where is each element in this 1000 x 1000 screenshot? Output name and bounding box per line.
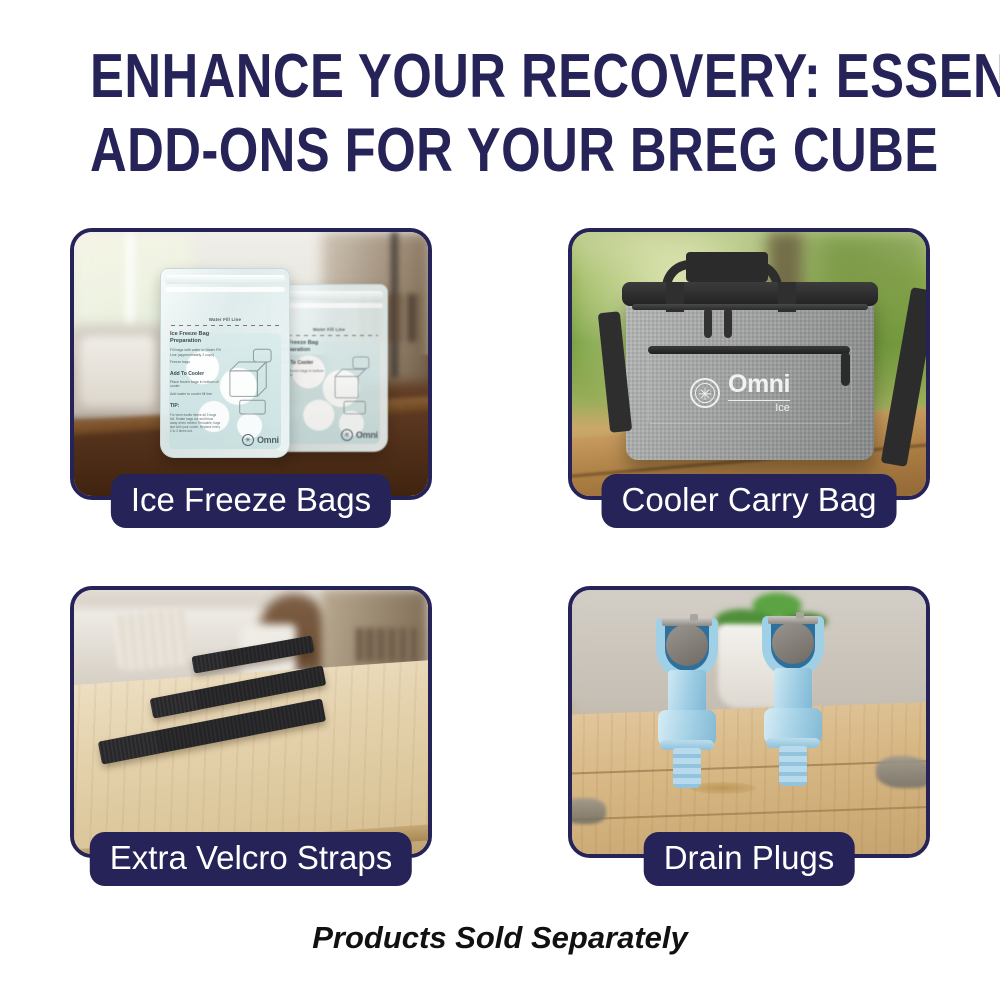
zipper-pull-left xyxy=(704,308,712,338)
bag-step-1: Fill bags with water to Water Fill Line … xyxy=(170,348,221,357)
bag-zipper xyxy=(165,275,285,284)
product-card-drain-plugs[interactable]: Drain Plugs xyxy=(568,586,930,858)
omni-ice-logo: Omni Ice xyxy=(690,372,790,414)
bag-tip-body: For best results freeze all 3 bags full.… xyxy=(170,413,221,434)
ice-bag-front: Water Fill Line Ice Freeze Bag Preparati… xyxy=(160,268,290,458)
bag-brand-name: Omni xyxy=(257,435,279,445)
omni-snowflake-icon xyxy=(242,434,254,446)
cooler-carry-bag-photo: Omni Ice xyxy=(572,232,926,496)
bag-step-4: Add water to cooler fill line xyxy=(170,392,221,397)
product-label-extra-velcro-straps: Extra Velcro Straps xyxy=(90,832,412,886)
bag-zipper-secondary xyxy=(165,287,285,292)
footer-disclaimer: Products Sold Separately xyxy=(0,920,1000,956)
plug-cap-nub xyxy=(796,612,804,619)
stone-left xyxy=(572,798,606,824)
bag-instructions-front: Ice Freeze Bag Preparation Fill bags wit… xyxy=(170,331,221,434)
bag-instructions-title: Ice Freeze Bag Preparation xyxy=(170,331,221,345)
pocket-zipper xyxy=(648,346,850,354)
bag-section-heading: Add To Cooler xyxy=(170,371,221,377)
product-image-frame xyxy=(568,586,930,858)
plug-cap-hinge xyxy=(768,616,818,624)
stone-right xyxy=(876,756,926,788)
cooler-lid xyxy=(622,282,878,306)
plug-cap-nub xyxy=(690,614,698,621)
bag-zipper xyxy=(275,291,383,300)
plug-cap-hinge xyxy=(662,618,712,626)
brand-subtitle: Ice xyxy=(728,400,790,414)
bag-diagram-illustration xyxy=(224,329,283,434)
drain-plugs-photo xyxy=(572,590,926,854)
handle-grip-pad xyxy=(686,252,768,282)
drain-plug-left xyxy=(650,618,724,786)
books-on-shelf xyxy=(356,628,422,662)
product-card-cooler-carry-bag[interactable]: Omni Ice Cooler Carry Bag xyxy=(568,228,930,500)
plug-barbed-stem xyxy=(673,748,701,788)
bag-step-2: Freeze bags xyxy=(170,360,221,365)
bag-brand-logo-front: Omni xyxy=(242,434,279,446)
drain-plug-right xyxy=(756,616,830,784)
plug-metal-cap xyxy=(772,622,814,664)
pocket-zipper-pull xyxy=(841,352,850,386)
omni-snowflake-icon xyxy=(341,429,353,441)
throw-pillow xyxy=(113,608,190,671)
bag-brand-name: Omni xyxy=(356,430,378,440)
product-label-ice-freeze-bags: Ice Freeze Bags xyxy=(111,474,391,528)
page-title-line-2: ADD-ONS FOR YOUR BREG CUBE xyxy=(90,114,910,188)
page-title-line-1: ENHANCE YOUR RECOVERY: ESSENTIAL xyxy=(90,40,910,114)
omni-wordmark: Omni Ice xyxy=(728,372,790,414)
bag-brand-logo-rear: Omni xyxy=(341,429,378,441)
product-grid: Water Fill Line Ice Freeze Bag Preparati… xyxy=(70,228,930,858)
cooler-bag-body: Omni Ice xyxy=(626,294,874,460)
bag-fill-line-label: Water Fill Line xyxy=(161,317,289,322)
zipper-pull-right xyxy=(724,308,732,338)
product-card-extra-velcro-straps[interactable]: Extra Velcro Straps xyxy=(70,586,432,858)
product-image-frame: Water Fill Line Ice Freeze Bag Preparati… xyxy=(70,228,432,500)
extra-velcro-straps-photo xyxy=(74,590,428,854)
product-label-cooler-carry-bag: Cooler Carry Bag xyxy=(602,474,897,528)
ice-freeze-bags-photo: Water Fill Line Ice Freeze Bag Preparati… xyxy=(74,232,428,496)
infographic-page: ENHANCE YOUR RECOVERY: ESSENTIAL ADD-ONS… xyxy=(0,0,1000,1000)
bag-zipper-secondary xyxy=(275,303,383,308)
product-image-frame xyxy=(70,586,432,858)
product-label-drain-plugs: Drain Plugs xyxy=(644,832,855,886)
main-zipper xyxy=(632,304,868,310)
plug-metal-cap xyxy=(666,624,708,666)
page-title: ENHANCE YOUR RECOVERY: ESSENTIAL ADD-ONS… xyxy=(90,40,910,188)
omni-snowflake-icon xyxy=(690,378,720,408)
bag-fill-line xyxy=(171,325,279,326)
product-image-frame: Omni Ice xyxy=(568,228,930,500)
brand-name: Omni xyxy=(728,372,790,397)
product-card-ice-freeze-bags[interactable]: Water Fill Line Ice Freeze Bag Preparati… xyxy=(70,228,432,500)
bag-fill-line xyxy=(280,335,377,336)
bag-step-3: Place frozen bags in bottom of cooler xyxy=(170,380,221,389)
bag-diagram-illustration xyxy=(328,338,381,431)
couch-cushion xyxy=(80,336,156,406)
bag-tip-title: TIP: xyxy=(170,403,221,409)
plug-barbed-stem xyxy=(779,746,807,786)
